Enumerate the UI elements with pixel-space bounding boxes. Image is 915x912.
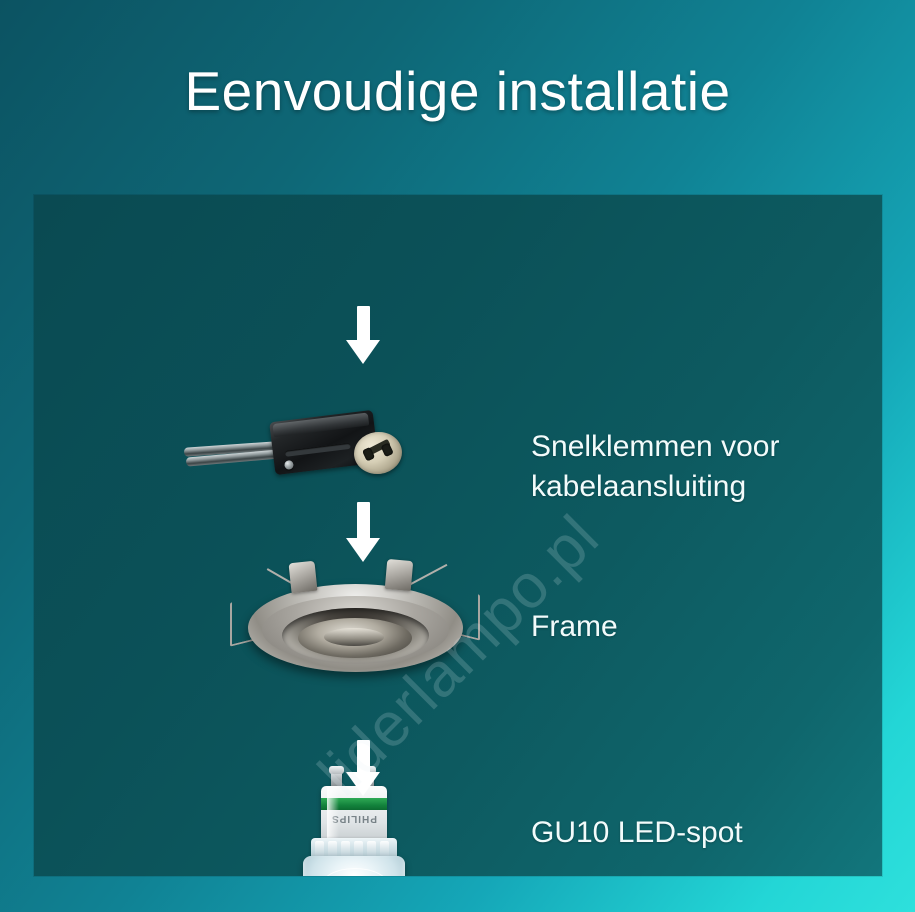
step-label-1-line-2: kabelaansluiting [531,467,779,507]
frame-inner-housing [282,608,429,663]
arrow-3-shaft [357,740,370,776]
bulb-ridge-seg [328,841,337,857]
gu10-pin-left-cap [329,766,344,774]
terminal-block-slot [285,443,351,457]
page-title: Eenvoudige installatie [0,60,915,122]
step-label-2-line-1: Frame [531,607,618,647]
arrow-down-3 [346,740,380,796]
arrow-down-2 [346,502,380,562]
bulb-base-highlight [327,786,339,842]
infographic-stage: Eenvoudige installatie Snelklemmen voor … [0,0,915,912]
bulb-lens [303,856,405,876]
arrow-1-shaft [357,306,370,344]
bulb-ridge-seg [380,841,389,857]
step-label-1-line-1: Snelklemmen voor [531,427,779,467]
step-label-3: GU10 LED-spot [531,813,743,853]
arrow-down-1 [346,306,380,364]
bulb-ridge-seg [315,841,324,857]
arrow-2-shaft [357,502,370,542]
frame-mount-tab-right [385,559,414,591]
arrow-3-head [346,772,380,796]
terminal-block-lid [272,412,369,437]
socket-pin-hole-right [381,443,394,458]
frame-lamp-slot [324,628,384,646]
diagram-panel: Snelklemmen voor kabelaansluiting Frame [34,195,882,876]
bulb-ridge-seg [354,841,363,857]
quick-connector-image [184,410,409,485]
arrow-1-head [346,340,380,364]
bulb-ridge-seg [341,841,350,857]
step-label-1: Snelklemmen voor kabelaansluiting [531,427,779,507]
frame-mount-tab-left [289,561,318,594]
arrow-2-head [346,538,380,562]
bulb-ridge-seg [367,841,376,857]
frame-image [230,560,480,675]
step-label-3-line-1: GU10 LED-spot [531,813,743,853]
step-label-2: Frame [531,607,618,647]
terminal-screw-left [284,460,294,470]
